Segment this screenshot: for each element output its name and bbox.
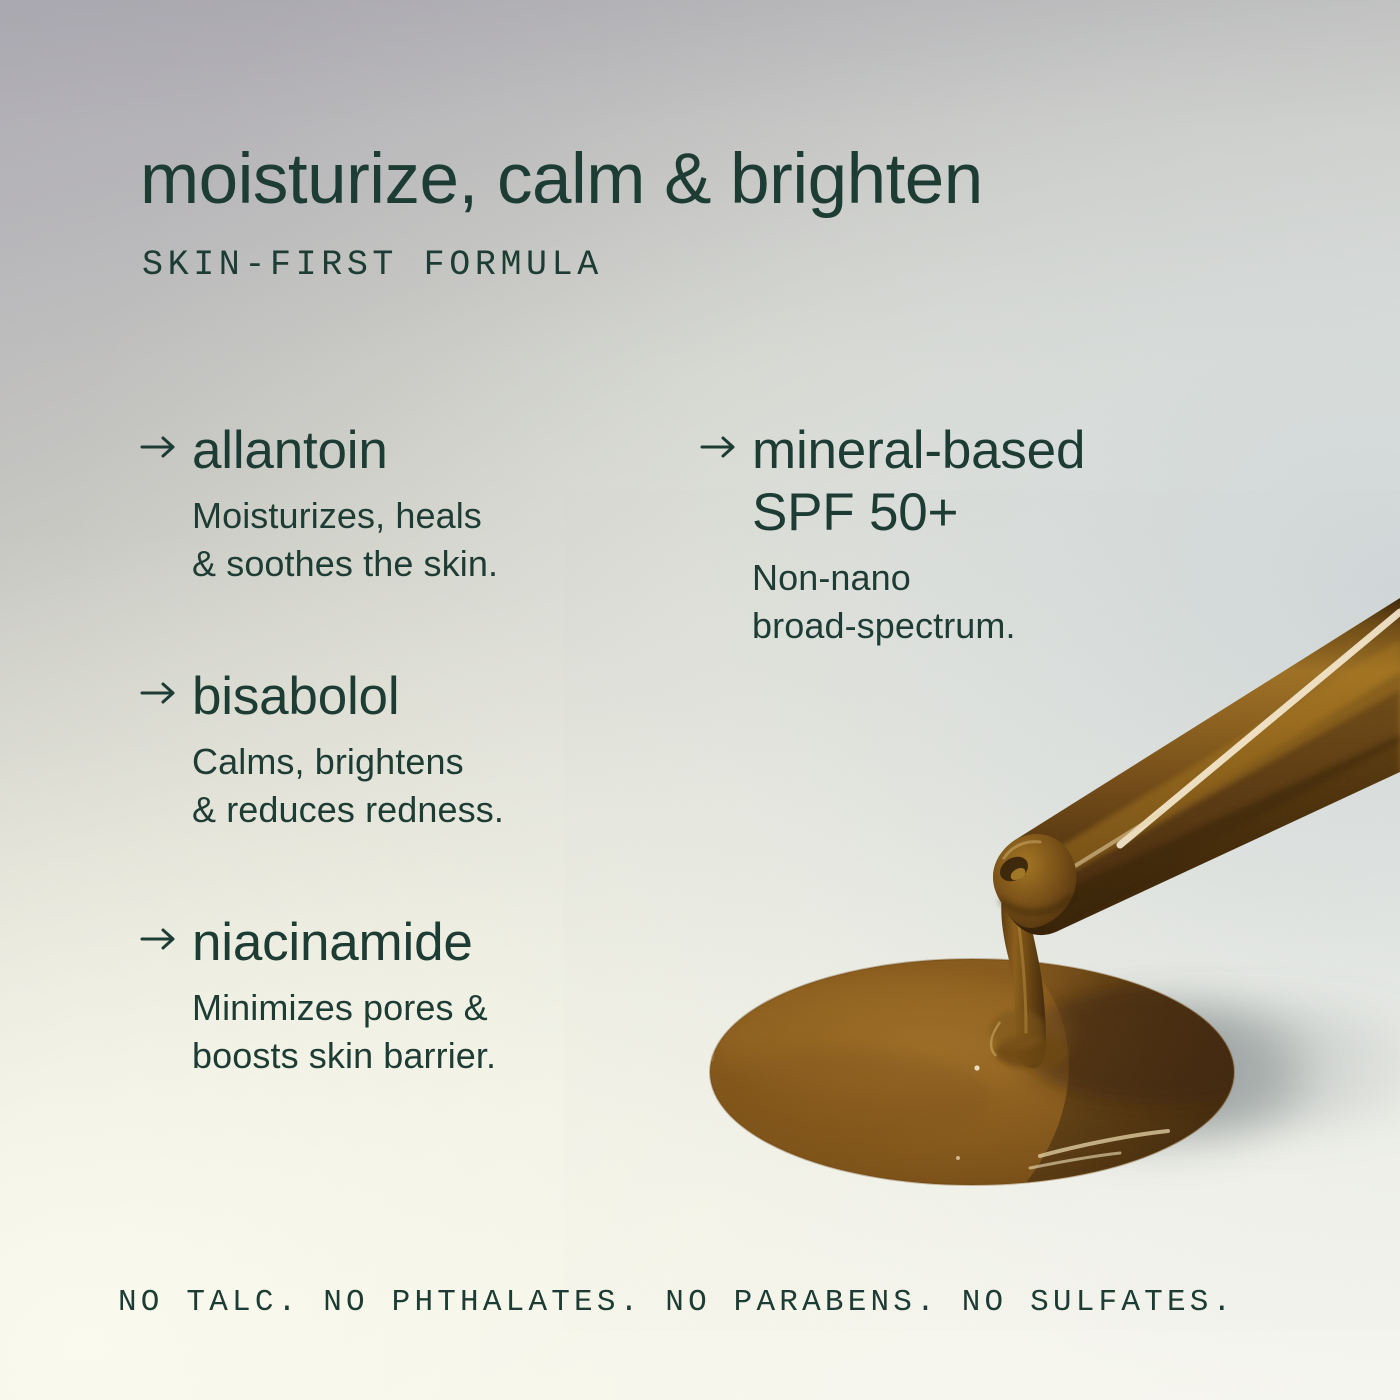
benefit-heading: allantoin	[140, 420, 660, 482]
benefit-heading: niacinamide	[140, 912, 660, 974]
arrow-right-icon	[140, 912, 192, 952]
benefit-item: niacinamide Minimizes pores & boosts ski…	[140, 912, 660, 1080]
benefit-title: allantoin	[192, 420, 388, 482]
benefit-description: Minimizes pores & boosts skin barrier.	[192, 984, 660, 1080]
benefit-title: niacinamide	[192, 912, 473, 974]
free-from-claims: NO TALC. NO PHTHALATES. NO PARABENS. NO …	[118, 1283, 1235, 1323]
page-title: moisturize, calm & brighten	[140, 138, 1260, 222]
benefit-item: bisabolol Calms, brightens & reduces red…	[140, 666, 660, 834]
benefit-heading: mineral-based SPF 50+	[700, 420, 1260, 544]
arrow-right-icon	[140, 666, 192, 706]
benefits-left-column: allantoin Moisturizes, heals & soothes t…	[140, 420, 660, 1080]
arrow-right-icon	[140, 420, 192, 460]
benefit-description: Non-nano broad-spectrum.	[752, 554, 1260, 650]
benefit-item: mineral-based SPF 50+ Non-nano broad-spe…	[700, 420, 1260, 650]
benefits-right-column: mineral-based SPF 50+ Non-nano broad-spe…	[700, 420, 1260, 650]
benefit-heading: bisabolol	[140, 666, 660, 728]
arrow-right-icon	[700, 420, 752, 460]
benefit-description: Moisturizes, heals & soothes the skin.	[192, 492, 660, 588]
benefit-title: bisabolol	[192, 666, 399, 728]
benefit-item: allantoin Moisturizes, heals & soothes t…	[140, 420, 660, 588]
benefit-title: mineral-based SPF 50+	[752, 420, 1085, 544]
marketing-graphic: moisturize, calm & brighten SKIN-FIRST F…	[0, 0, 1400, 1400]
eyebrow-label: SKIN-FIRST FORMULA	[142, 243, 603, 287]
benefit-description: Calms, brightens & reduces redness.	[192, 738, 660, 834]
